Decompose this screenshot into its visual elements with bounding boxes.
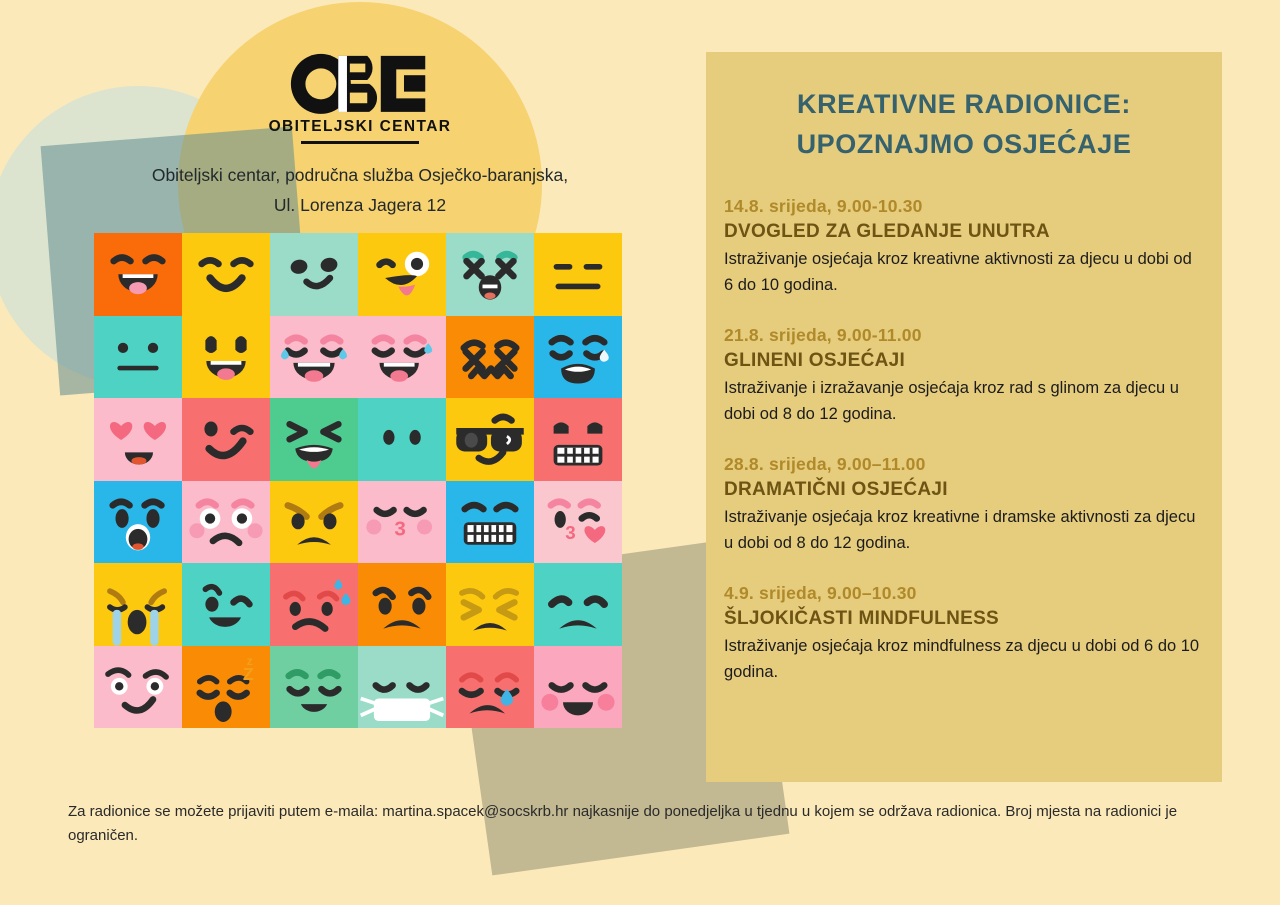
emoji-worried-frown bbox=[358, 563, 446, 646]
workshop-date: 28.8. srijeda, 9.00–11.00 bbox=[724, 452, 1200, 476]
emoji-neutral-flat-mouth bbox=[94, 316, 182, 399]
emoji-blank-dot-eyes bbox=[358, 398, 446, 481]
address-line-2: Ul. Lorenza Jagera 12 bbox=[110, 190, 610, 220]
emoji-sleeping-zzz: zZ bbox=[182, 646, 270, 729]
page-title-line-2: UPOZNAJMO OSJEĆAJE bbox=[726, 124, 1202, 164]
emoji-expressionless-neutral bbox=[534, 233, 622, 316]
emoji-streaming-tears bbox=[94, 563, 182, 646]
emoji-squinting-tongue-out bbox=[270, 398, 358, 481]
emoji-loudly-crying bbox=[534, 316, 622, 399]
workshop-date: 14.8. srijeda, 9.00-10.30 bbox=[724, 194, 1200, 218]
footer-note: Za radionice se možete prijaviti putem e… bbox=[68, 800, 1203, 848]
workshop-item: 21.8. srijeda, 9.00-11.00GLINENI OSJEĆAJ… bbox=[724, 323, 1200, 427]
workshop-date: 21.8. srijeda, 9.00-11.00 bbox=[724, 323, 1200, 347]
workshop-description: Istraživanje osjećaja kroz kreativne akt… bbox=[724, 246, 1200, 298]
obc-logo-icon bbox=[288, 52, 433, 116]
address-block: Obiteljski centar, područna služba Osječ… bbox=[110, 160, 610, 220]
workshop-title: DRAMATIČNI OSJEĆAJI bbox=[724, 476, 1200, 503]
emoji-shocked-open-mouth bbox=[94, 481, 182, 564]
emoji-kissing-face-3: 3 bbox=[358, 481, 446, 564]
emoji-playful-raised-brow bbox=[94, 646, 182, 729]
emoji-face-with-medical-mask bbox=[358, 646, 446, 729]
emoji-smiling-closed-eyes bbox=[182, 233, 270, 316]
emoji-heart-eyes bbox=[94, 398, 182, 481]
emoji-anxious-sweat-drops bbox=[270, 563, 358, 646]
logo-underline bbox=[301, 141, 419, 144]
emoji-sad-wide-eyes bbox=[182, 481, 270, 564]
emoji-blowing-kiss-heart: 3 bbox=[534, 481, 622, 564]
info-panel: KREATIVNE RADIONICE: UPOZNAJMO OSJEĆAJE … bbox=[706, 52, 1222, 782]
emoji-big-grin-happy bbox=[182, 316, 270, 399]
svg-text:3: 3 bbox=[394, 517, 405, 540]
emoji-winking-smile bbox=[182, 398, 270, 481]
emoji-winking-happy bbox=[182, 563, 270, 646]
emoji-weary-closed-eyes bbox=[446, 563, 534, 646]
emoji-dizzy-x-eyes bbox=[446, 233, 534, 316]
workshop-title: DVOGLED ZA GLEDANJE UNUTRA bbox=[724, 218, 1200, 245]
emoji-grimacing-teeth bbox=[534, 398, 622, 481]
page-title: KREATIVNE RADIONICE: UPOZNAJMO OSJEĆAJE bbox=[706, 52, 1222, 164]
page-title-line-1: KREATIVNE RADIONICE: bbox=[726, 84, 1202, 124]
svg-text:Z: Z bbox=[243, 663, 254, 683]
emoji-sunglasses-cool bbox=[446, 398, 534, 481]
emoji-laughing-tears bbox=[270, 316, 358, 399]
emoji-smirking-sideways bbox=[270, 233, 358, 316]
workshop-item: 14.8. srijeda, 9.00-10.30DVOGLED ZA GLED… bbox=[724, 194, 1200, 298]
emoji-disappointed-sad bbox=[534, 563, 622, 646]
header-block: OBITELJSKI CENTAR Obiteljski centar, pod… bbox=[110, 52, 610, 220]
workshop-description: Istraživanje osjećaja kroz kreativne i d… bbox=[724, 504, 1200, 556]
workshop-item: 4.9. srijeda, 9.00–10.30ŠLJOKIČASTI MIND… bbox=[724, 581, 1200, 685]
emoji-grinning-open-mouth bbox=[94, 233, 182, 316]
workshop-date: 4.9. srijeda, 9.00–10.30 bbox=[724, 581, 1200, 605]
emoji-confounded-squiggle-mouth bbox=[446, 316, 534, 399]
emoji-grid: 33zZ bbox=[94, 233, 622, 728]
logo-wordmark: OBITELJSKI CENTAR bbox=[110, 118, 610, 136]
svg-text:3: 3 bbox=[565, 522, 575, 543]
emoji-blushing-content bbox=[534, 646, 622, 729]
emoji-grinning-clenched-teeth bbox=[446, 481, 534, 564]
emoji-angry-frown bbox=[270, 481, 358, 564]
emoji-crying-single-tear bbox=[446, 646, 534, 729]
address-line-1: Obiteljski centar, područna služba Osječ… bbox=[110, 160, 610, 190]
emoji-relieved-smile bbox=[270, 646, 358, 729]
emoji-winking-tongue-out bbox=[358, 233, 446, 316]
workshop-list: 14.8. srijeda, 9.00-10.30DVOGLED ZA GLED… bbox=[706, 164, 1222, 685]
workshop-title: ŠLJOKIČASTI MINDFULNESS bbox=[724, 605, 1200, 632]
workshop-item: 28.8. srijeda, 9.00–11.00DRAMATIČNI OSJE… bbox=[724, 452, 1200, 556]
workshop-description: Istraživanje i izražavanje osjećaja kroz… bbox=[724, 375, 1200, 427]
emoji-sweat-grin bbox=[358, 316, 446, 399]
workshop-description: Istraživanje osjećaja kroz mindfulness z… bbox=[724, 633, 1200, 685]
workshop-title: GLINENI OSJEĆAJI bbox=[724, 347, 1200, 374]
